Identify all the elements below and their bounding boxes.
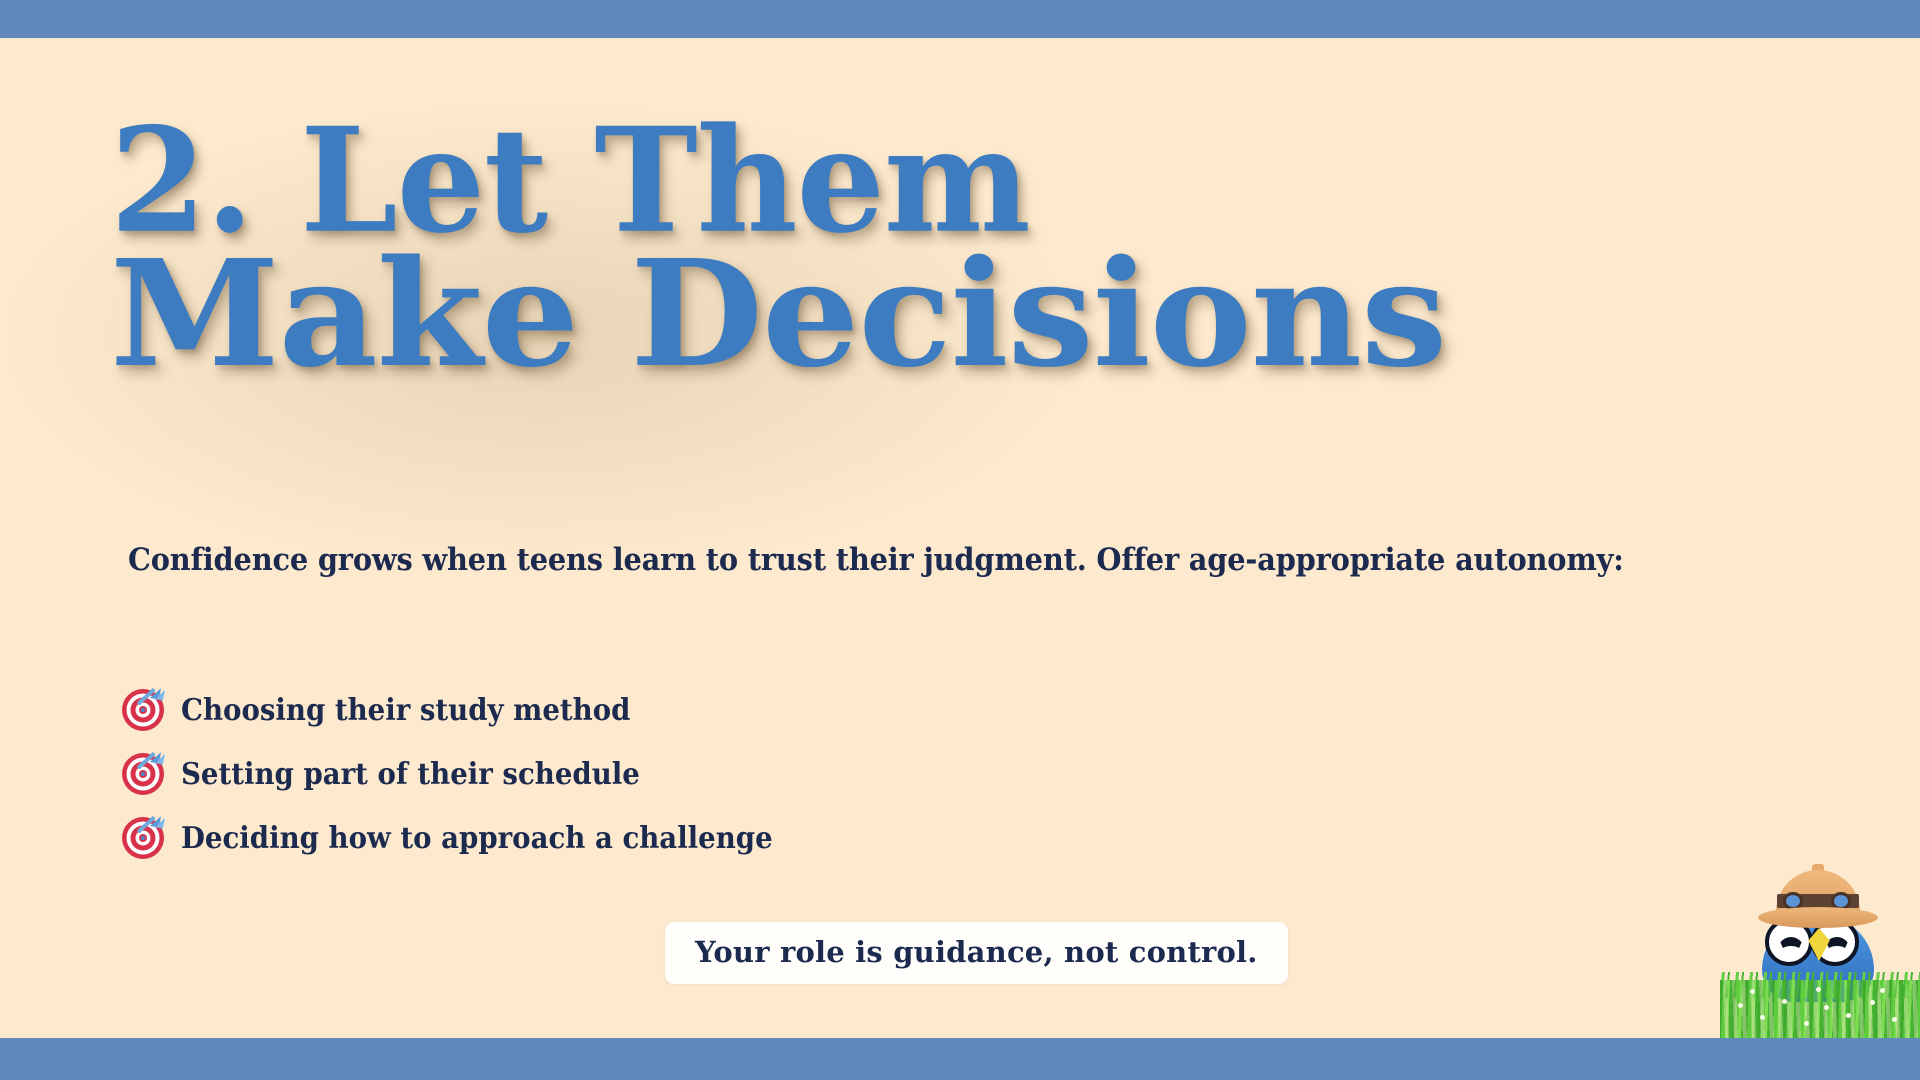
bullet-list: Choosing their study method Setting part…	[120, 678, 824, 870]
pith-helmet-icon	[1758, 864, 1878, 930]
dartboard-icon	[120, 815, 166, 861]
top-accent-bar	[0, 0, 1920, 38]
bullet-label: Deciding how to approach a challenge	[181, 821, 773, 856]
callout-box: Your role is guidance, not control.	[665, 922, 1288, 984]
slide-canvas: 2. Let Them Make Decisions Confidence gr…	[0, 0, 1920, 1080]
slide-subtitle: Confidence grows when teens learn to tru…	[128, 542, 1624, 578]
owl-beak	[1808, 940, 1830, 961]
bullet-label: Choosing their study method	[181, 693, 630, 728]
callout-text: Your role is guidance, not control.	[695, 935, 1258, 969]
dartboard-icon	[120, 751, 166, 797]
slide-title: 2. Let Them Make Decisions	[110, 112, 1670, 369]
title-line-2: Make Decisions	[110, 244, 1920, 383]
list-item: Deciding how to approach a challenge	[120, 806, 824, 870]
bottom-accent-bar	[0, 1038, 1920, 1080]
list-item: Setting part of their schedule	[120, 742, 824, 806]
mascot-scene	[1720, 853, 1920, 1038]
bullet-label: Setting part of their schedule	[181, 757, 640, 792]
dartboard-icon	[120, 687, 166, 733]
list-item: Choosing their study method	[120, 678, 824, 742]
